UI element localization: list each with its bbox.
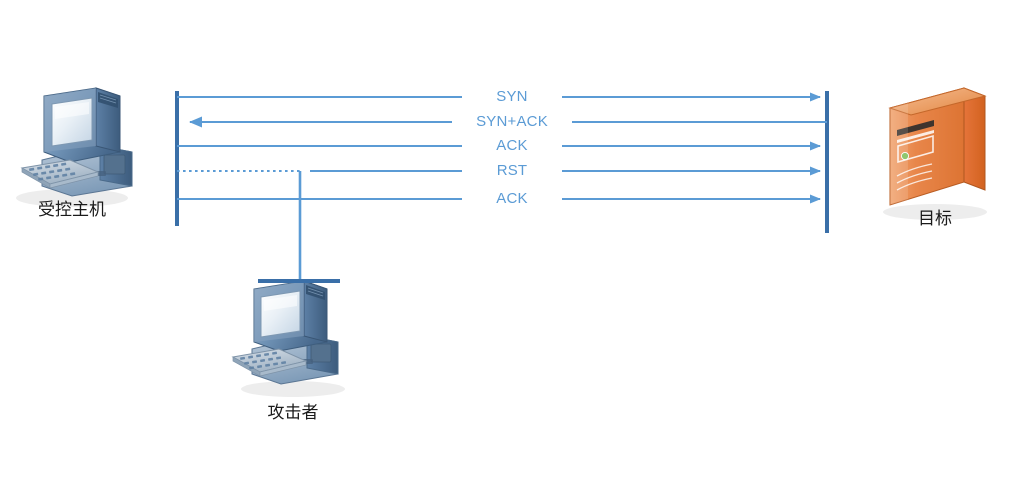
desktop-computer-icon-controlled-host — [16, 88, 132, 207]
node-label-controlled-host: 受控主机 — [2, 200, 142, 220]
message-label-syn-ack: SYN+ACK — [452, 113, 572, 130]
message-label-ack-1: ACK — [462, 137, 562, 154]
desktop-computer-icon-attacker — [233, 281, 345, 397]
node-label-target: 目标 — [865, 209, 1005, 229]
sequence-diagram: SYN SYN+ACK ACK RST ACK 受控主机 目标 攻击者 — [0, 0, 1024, 501]
diagram-canvas — [0, 0, 1024, 501]
node-label-attacker: 攻击者 — [223, 403, 363, 423]
message-label-syn: SYN — [462, 88, 562, 105]
message-label-rst: RST — [462, 162, 562, 179]
server-tower-icon-target — [883, 88, 987, 220]
message-label-ack-2: ACK — [462, 190, 562, 207]
